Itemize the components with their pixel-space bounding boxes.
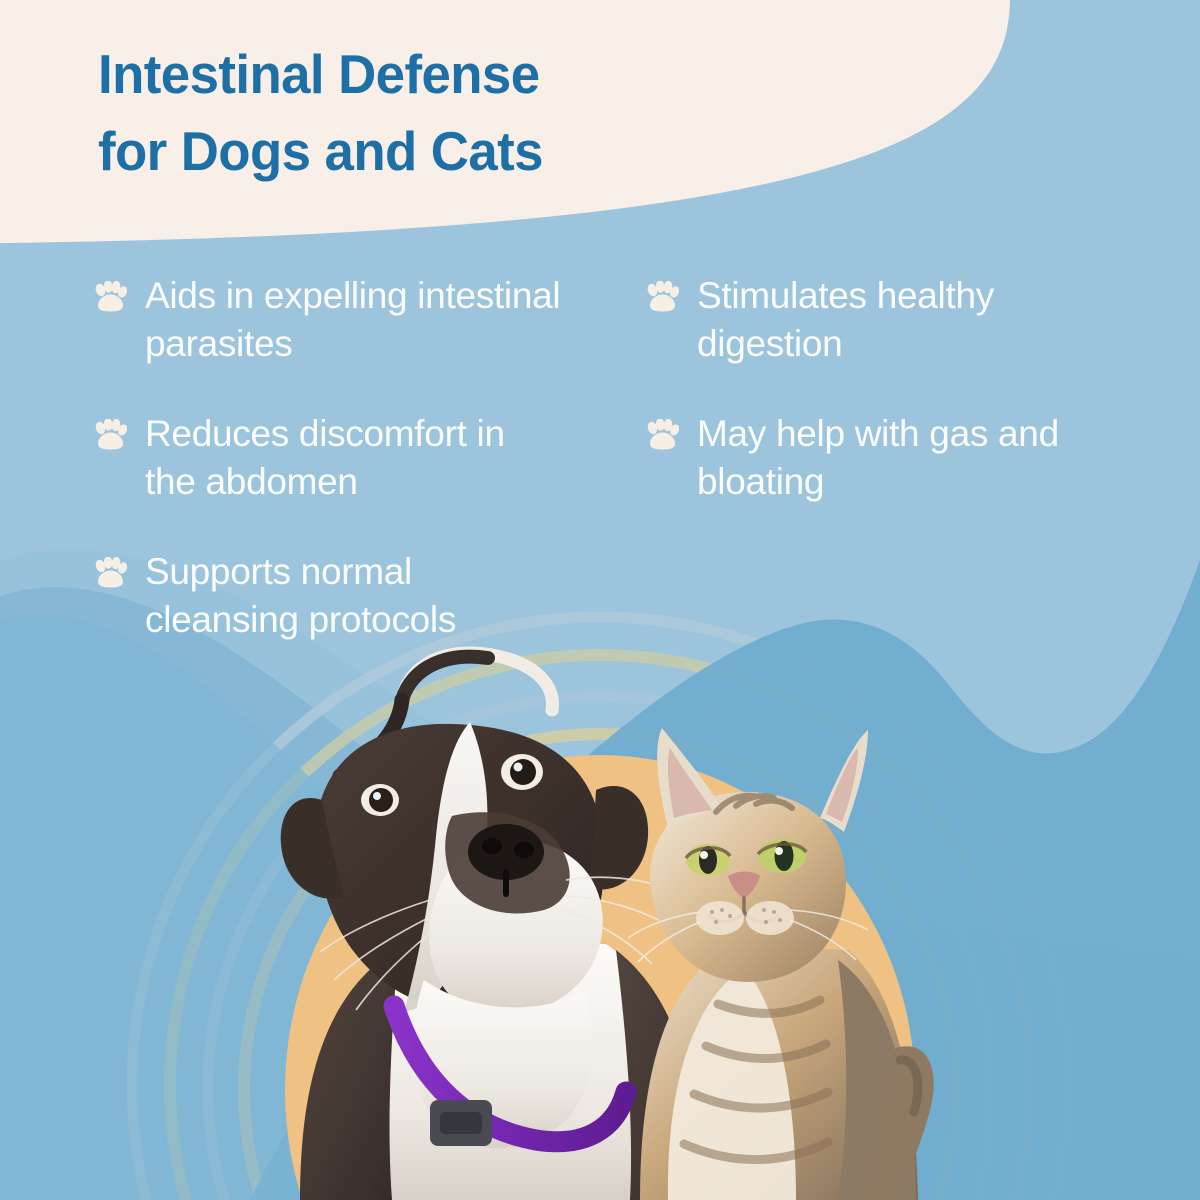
benefit-item: Reduces discomfort in the abdomen [93,410,563,506]
paw-print-icon [93,419,127,451]
title-line-2: for Dogs and Cats [98,113,712,190]
paw-print-icon [645,281,679,313]
benefit-label: May help with gas and bloating [697,410,1095,506]
title-line-1: Intestinal Defense [98,36,712,113]
paw-print-icon [93,557,127,589]
benefit-label: Supports normal cleansing protocols [145,548,563,644]
benefit-item: Supports normal cleansing protocols [93,548,563,644]
benefits-left-column: Aids in expelling intestinal parasites R… [93,272,563,687]
benefits-right-column: Stimulates healthy digestion May help wi… [645,272,1095,548]
benefit-label: Stimulates healthy digestion [697,272,1095,368]
paw-print-icon [645,419,679,451]
paw-print-icon [93,281,127,313]
benefit-item: May help with gas and bloating [645,410,1095,506]
benefit-item: Aids in expelling intestinal parasites [93,272,563,368]
benefit-label: Aids in expelling intestinal parasites [145,272,563,368]
poster-canvas: Intestinal Defense for Dogs and Cats Aid… [0,0,1200,1200]
benefit-label: Reduces discomfort in the abdomen [145,410,563,506]
benefit-item: Stimulates healthy digestion [645,272,1095,368]
poster-title: Intestinal Defense for Dogs and Cats [98,36,738,190]
